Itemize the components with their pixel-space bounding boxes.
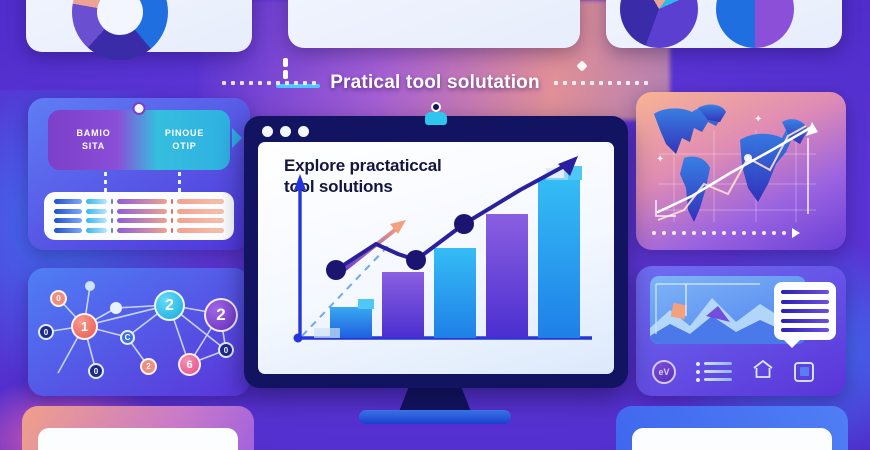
table-row <box>54 199 224 204</box>
pill-buttons-card[interactable]: 08 FOAAWIIMG (7A <box>288 0 580 48</box>
network-node[interactable]: 1 <box>71 313 98 340</box>
message-line <box>781 290 829 294</box>
window-dot-3[interactable] <box>298 126 309 137</box>
table-row <box>54 209 224 214</box>
network-node[interactable]: 2 <box>154 290 185 321</box>
bottom-right-card[interactable]: P <box>616 406 848 450</box>
connector-line-1 <box>104 172 107 192</box>
window-dot-2[interactable] <box>280 126 291 137</box>
home-icon[interactable] <box>752 359 774 384</box>
network-node[interactable]: C <box>120 330 135 345</box>
speech-bubble-right: PINOUE OTIP <box>139 110 230 170</box>
monitor-stand-base <box>359 410 511 424</box>
bubble-left-line1: BAMIO <box>77 127 111 140</box>
speech-bubble: BAMIO SITA PINOUE OTIP <box>48 110 230 170</box>
speech-bubble-left: BAMIO SITA <box>48 110 139 170</box>
message-line <box>781 309 829 313</box>
world-map-card[interactable]: ✦ ✦ <box>636 92 846 250</box>
network-node[interactable]: 0 <box>50 290 67 307</box>
speech-bubble-card[interactable]: BAMIO SITA PINOUE OTIP <box>28 98 250 250</box>
network-graph-card[interactable]: 0 0 1 0 C 2 2 6 0 2 <box>28 268 250 396</box>
settings-circle-icon[interactable]: eV <box>652 360 676 384</box>
bottom-right-inner: P <box>632 428 832 450</box>
network-node[interactable]: 2 <box>140 358 157 375</box>
message-bubble[interactable] <box>774 282 836 340</box>
table-row <box>54 218 224 223</box>
message-line <box>781 328 829 332</box>
sparkle-icon: ✦ <box>754 114 762 125</box>
bottom-left-card[interactable]: f <box>22 406 254 450</box>
analytics-chat-card[interactable]: eV <box>636 266 846 396</box>
user-avatar-icon <box>424 102 448 126</box>
settings-icon-label: eV <box>658 367 669 377</box>
play-arrow-icon[interactable] <box>792 228 800 238</box>
bubble-right-line2: OTIP <box>172 140 196 153</box>
map-progress-dots[interactable] <box>652 228 800 238</box>
bubble-right-line1: PINOUE <box>165 127 204 140</box>
bubble-left-line2: SITA <box>82 140 105 153</box>
pin-icon <box>133 102 146 115</box>
message-line <box>781 300 829 304</box>
monitor[interactable]: Explore practaticcal tool solutions <box>244 116 628 388</box>
donut-chart <box>72 0 168 60</box>
bar-chart-graphic <box>258 142 614 374</box>
network-node[interactable]: 0 <box>218 342 234 358</box>
world-map-graphic <box>636 92 846 250</box>
banner-dots-right <box>554 81 648 85</box>
data-table-card[interactable] <box>44 192 234 240</box>
network-node[interactable]: 6 <box>178 353 201 376</box>
toolbar-icons: eV <box>652 359 830 384</box>
network-edges <box>28 268 250 396</box>
list-icon[interactable] <box>696 362 732 382</box>
network-node[interactable]: 0 <box>38 324 54 340</box>
square-icon[interactable] <box>794 362 814 382</box>
connector-line-2 <box>178 172 181 192</box>
banner-dots-left <box>222 81 316 85</box>
monitor-screen: Explore practaticcal tool solutions <box>258 142 614 374</box>
banner-title: Pratical tool solutation <box>330 72 540 94</box>
sparkle-icon: ✦ <box>656 154 664 165</box>
message-line <box>781 319 829 323</box>
window-dot-1[interactable] <box>262 126 273 137</box>
network-node[interactable]: 2 <box>204 298 238 332</box>
bottom-left-inner: f <box>38 428 238 450</box>
poster-stage: 86% 9.172 900b 08 FOAAWIIMG (7A B-97o 02… <box>0 0 870 450</box>
table-row <box>54 228 224 233</box>
network-node[interactable]: 0 <box>88 363 104 379</box>
